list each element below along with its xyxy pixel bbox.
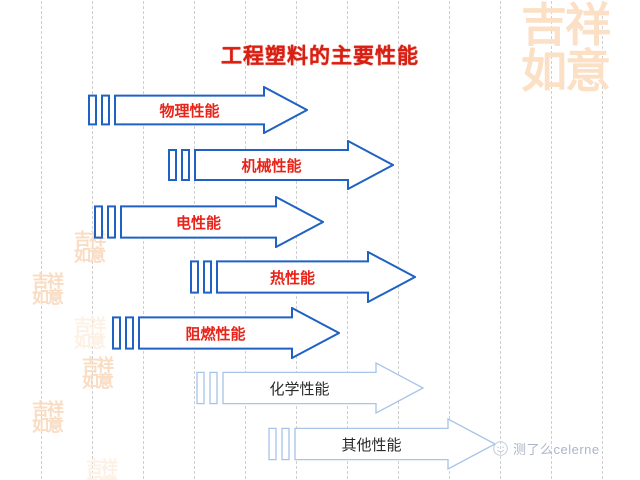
brand-label: 测了么celerne [513,439,600,458]
arrow-body [195,141,393,189]
arrow-body [223,363,423,413]
arrow-accent-bar [182,150,189,180]
arrow-accent-bar [282,428,289,459]
arrow-shape [168,140,394,190]
gridline [500,0,501,480]
gridline [41,0,42,480]
arrow-shape [88,86,308,134]
gridline [449,0,450,480]
arrow-item[interactable]: 物理性能 [88,86,308,134]
arrow-accent-bar [113,317,120,348]
gridline [602,0,603,480]
arrow-accent-bar [89,96,96,125]
seal-watermark-side: 吉祥如意 [28,274,66,306]
gridline [551,0,552,480]
arrow-accent-bar [269,428,276,459]
arrow-body [121,197,323,247]
arrow-accent-bar [95,206,102,237]
arrow-item[interactable]: 热性能 [190,251,416,303]
arrow-item[interactable]: 阻燃性能 [112,307,340,359]
arrow-shape [190,251,416,303]
arrow-shape [268,418,496,470]
arrow-accent-bar [191,261,198,292]
arrow-accent-bar [108,206,115,237]
chat-face-icon [492,440,509,457]
seal-watermark-side: 吉祥如意 [78,358,116,390]
arrow-shape [112,307,340,359]
arrow-accent-bar [169,150,176,180]
arrow-item[interactable]: 机械性能 [168,140,394,190]
arrow-shape [94,196,324,248]
arrow-body [217,252,415,302]
seal-watermark-side: 吉祥如意 [70,318,108,350]
brand-watermark: 测了么celerne [492,439,600,458]
seal-watermark-side: 吉祥如意 [28,402,66,434]
seal-watermark-side: 吉祥如意 [82,460,120,480]
arrow-accent-bar [102,96,109,125]
arrow-accent-bar [210,372,217,403]
arrow-item[interactable]: 电性能 [94,196,324,248]
arrow-body [115,87,307,133]
arrow-item[interactable]: 其他性能 [268,418,496,470]
arrow-body [139,308,339,358]
arrow-accent-bar [204,261,211,292]
slide-canvas: 吉祥如意 吉祥如意 吉祥如意 吉祥如意 吉祥如意 吉祥如意 吉祥如意 吉祥如意 … [0,0,640,480]
arrow-item[interactable]: 化学性能 [196,362,424,414]
arrow-accent-bar [126,317,133,348]
arrow-shape [196,362,424,414]
arrow-accent-bar [197,372,204,403]
gridline [92,0,93,480]
arrow-body [295,419,495,469]
page-title: 工程塑料的主要性能 [0,40,640,70]
